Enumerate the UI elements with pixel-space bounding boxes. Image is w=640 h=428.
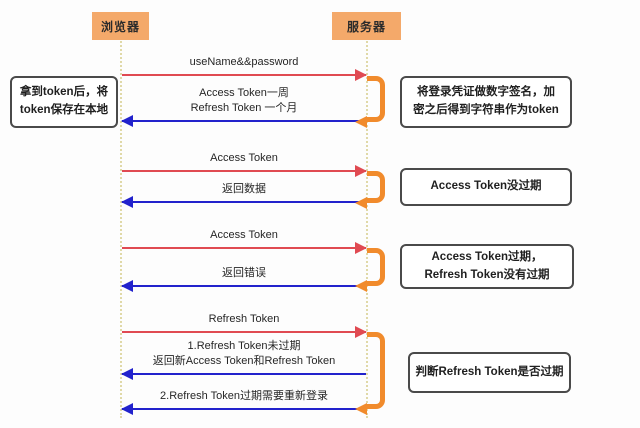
message-line [122,331,366,333]
sequence-diagram-canvas: 浏览器 服务器 useName&&password Access Token一周… [0,0,640,428]
message-line [122,408,366,410]
arrowhead-left-icon [121,115,133,127]
message-label: 1.Refresh Token未过期 返回新Access Token和Refre… [122,339,366,369]
note-access-token-valid: Access Token没过期 [400,168,572,206]
message-label: 返回数据 [122,182,366,197]
note-check-refresh-token-expiry: 判断Refresh Token是否过期 [408,352,571,393]
message-label: Refresh Token [122,312,366,327]
arrowhead-left-icon [121,280,133,292]
actor-server: 服务器 [332,12,401,40]
message-label: useName&&password [122,55,366,70]
note-sign-credentials: 将登录凭证做数字签名，加 密之后得到字符串作为token [400,76,572,128]
message-line [122,170,366,172]
arrowhead-left-icon [121,196,133,208]
self-loop-3 [367,248,385,286]
arrowhead-left-icon [121,403,133,415]
arrowhead-right-icon [355,242,367,254]
arrowhead-left-icon [355,403,367,415]
actor-browser: 浏览器 [92,12,149,40]
arrowhead-left-icon [355,116,367,128]
message-line [122,373,366,375]
arrowhead-left-icon [121,368,133,380]
arrowhead-right-icon [355,326,367,338]
actor-server-label: 服务器 [347,18,386,35]
message-label: Access Token一周 Refresh Token 一个月 [122,86,366,116]
self-loop-4 [367,332,385,409]
message-label: Access Token [122,151,366,166]
message-line [122,201,366,203]
message-label: Access Token [122,228,366,243]
note-browser-store-token: 拿到token后，将 token保存在本地 [10,76,118,128]
message-line [122,120,366,122]
arrowhead-right-icon [355,69,367,81]
message-label: 2.Refresh Token过期需要重新登录 [122,389,366,404]
message-line [122,247,366,249]
message-label: 返回错误 [122,266,366,281]
self-loop-2 [367,171,385,203]
note-access-expired-refresh-valid: Access Token过期， Refresh Token没有过期 [400,244,574,289]
arrowhead-left-icon [355,280,367,292]
message-line [122,74,366,76]
actor-browser-label: 浏览器 [101,18,140,35]
self-loop-1 [367,76,385,122]
arrowhead-right-icon [355,165,367,177]
arrowhead-left-icon [355,197,367,209]
message-line [122,285,366,287]
